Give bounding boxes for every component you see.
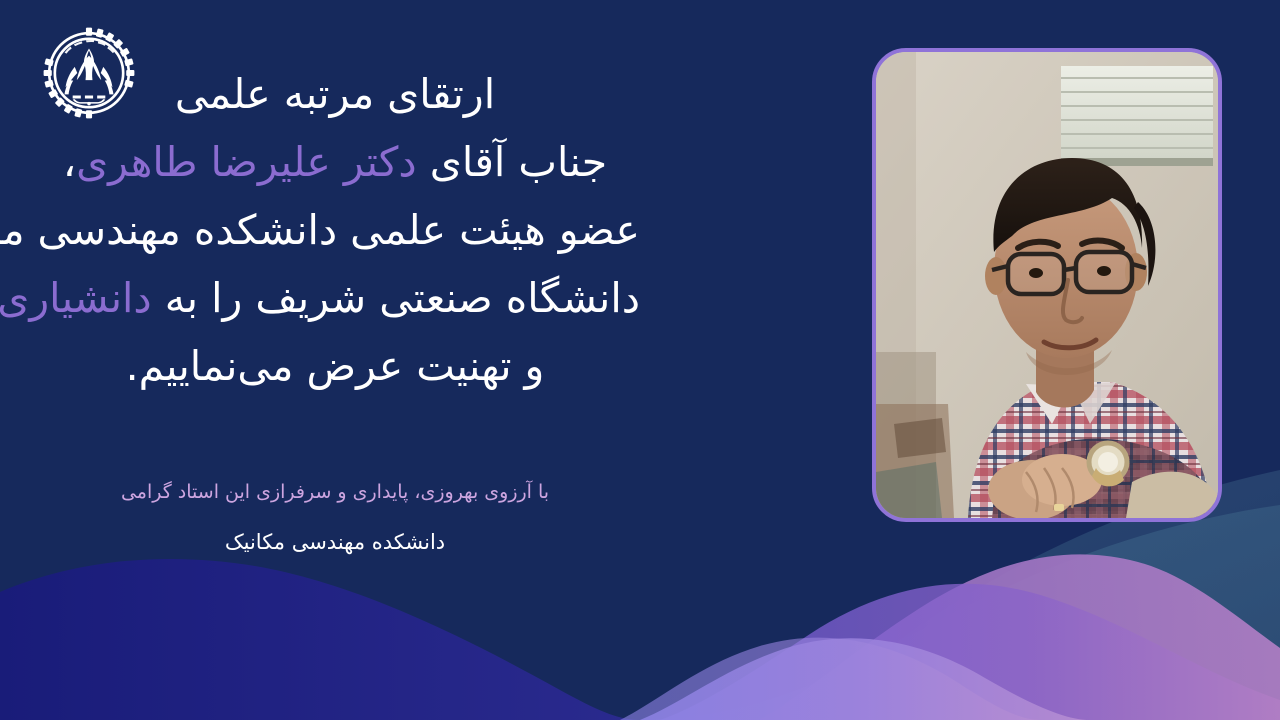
portrait-photo <box>876 52 1218 518</box>
message-line-4: دانشگاه صنعتی شریف را به دانشیاری تبریک <box>30 264 640 332</box>
announcement-message: ارتقای مرتبه علمی جناب آقای دکتر علیرضا … <box>30 60 640 400</box>
professor-name: دکتر علیرضا طاهری <box>76 138 417 186</box>
announcement-slide: ارتقای مرتبه علمی جناب آقای دکتر علیرضا … <box>0 0 1280 720</box>
message-line-5: و تهنیت عرض می‌نماییم. <box>30 332 640 400</box>
message-line-1: ارتقای مرتبه علمی <box>30 60 640 128</box>
message-line-2-prefix: جناب آقای <box>417 138 607 186</box>
footer-faculty: دانشکده مهندسی مکانیک <box>50 527 620 559</box>
message-line-2: جناب آقای دکتر علیرضا طاهری، <box>30 128 640 196</box>
new-rank: دانشیاری <box>0 274 152 322</box>
message-line-3: عضو هیئت علمی دانشکده مهندسی مکانیک <box>30 196 640 264</box>
portrait-frame <box>872 48 1222 522</box>
footer-wishes: با آرزوی بهروزی، پایداری و سرفرازی این ا… <box>50 478 620 507</box>
message-line-2-suffix: ، <box>63 138 76 186</box>
message-line-4-prefix: دانشگاه صنعتی شریف را به <box>152 274 640 322</box>
